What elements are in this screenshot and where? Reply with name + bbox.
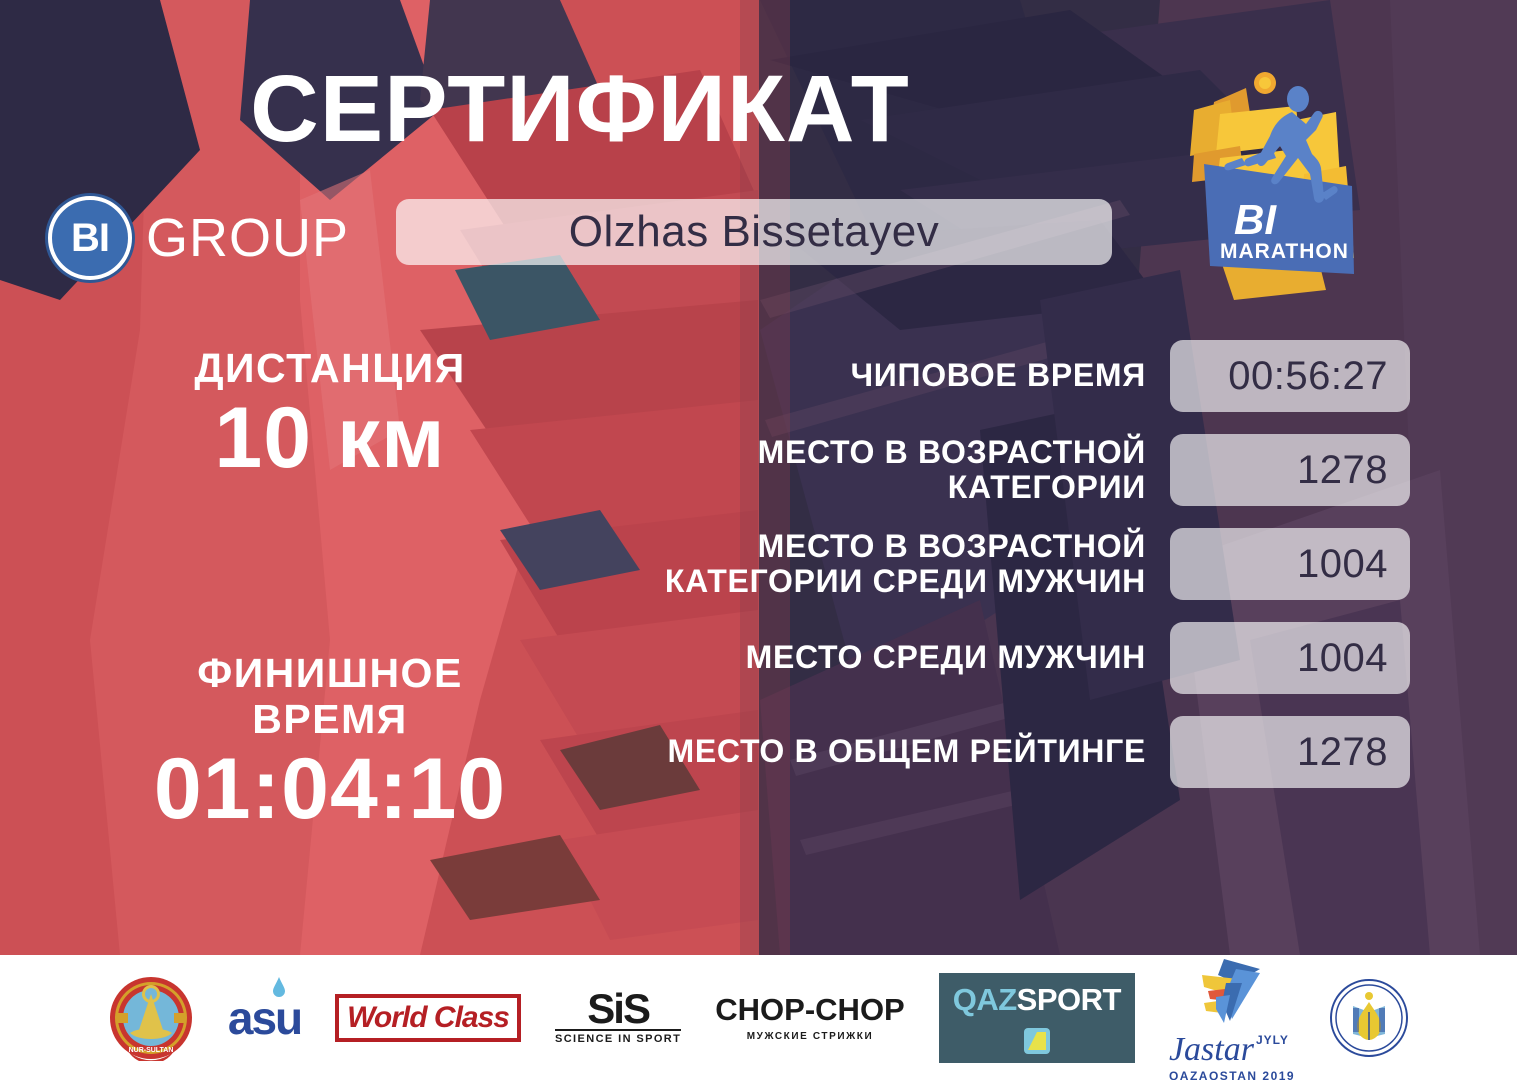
results-stats-list: ЧИПОВОЕ ВРЕМЯ 00:56:27 МЕСТО В ВОЗРАСТНО… bbox=[560, 340, 1410, 810]
sponsor-strip: NUR-SULTAN asu World Class SiS SCIENCE I… bbox=[0, 955, 1517, 1080]
bi-marathon-logo: BI MARATHON bbox=[1176, 62, 1382, 312]
certificate: СЕРТИФИКАТ BI GROUP Olzhas Bissetayev bbox=[0, 0, 1517, 1080]
qazsport-wordmark-a: QAZ bbox=[953, 982, 1017, 1017]
sis-wordmark: SiS bbox=[587, 990, 649, 1028]
sponsor-chop-chop: CHOP-CHOP МУЖСКИЕ СТРИЖКИ bbox=[715, 994, 904, 1042]
marathon-bi-text: BI bbox=[1234, 196, 1277, 243]
sponsor-ministry-culture-sport bbox=[1329, 978, 1409, 1058]
stat-row-overall-place: МЕСТО В ОБЩЕМ РЕЙТИНГЕ 1278 bbox=[560, 716, 1410, 788]
sponsor-jastar-jyly: Jastar JYLY QAZAQSTAN 2019 bbox=[1169, 953, 1295, 1080]
nur-sultan-label: NUR-SULTAN bbox=[128, 1047, 173, 1054]
ministry-emblem-icon bbox=[1329, 978, 1409, 1058]
stat-row-age-category-place: МЕСТО В ВОЗРАСТНОЙ КАТЕГОРИИ 1278 bbox=[560, 434, 1410, 506]
qazsport-wordmark-b: SPORT bbox=[1017, 982, 1121, 1017]
stat-label: МЕСТО В ВОЗРАСТНОЙ КАТЕГОРИИ СРЕДИ МУЖЧИ… bbox=[560, 529, 1170, 599]
nur-sultan-emblem-icon: NUR-SULTAN bbox=[108, 975, 194, 1061]
sponsor-qazsport: QAZSPORT bbox=[939, 973, 1135, 1063]
jastar-jyly-text: JYLY bbox=[1256, 1033, 1289, 1047]
asu-drop-icon bbox=[272, 977, 286, 997]
world-class-wordmark: World Class bbox=[347, 1001, 509, 1035]
stat-label: МЕСТО СРЕДИ МУЖЧИН bbox=[560, 640, 1170, 675]
qazsport-mark-icon bbox=[1024, 1028, 1050, 1054]
sponsor-asu: asu bbox=[228, 991, 301, 1045]
stat-label: МЕСТО В ВОЗРАСТНОЙ КАТЕГОРИИ bbox=[560, 435, 1170, 505]
stat-label: МЕСТО В ОБЩЕМ РЕЙТИНГЕ bbox=[560, 734, 1170, 769]
stat-row-chip-time: ЧИПОВОЕ ВРЕМЯ 00:56:27 bbox=[560, 340, 1410, 412]
stat-value: 1004 bbox=[1170, 622, 1410, 694]
sis-tagline: SCIENCE IN SPORT bbox=[555, 1029, 681, 1045]
stat-value: 1004 bbox=[1170, 528, 1410, 600]
finish-time-label: ФИНИШНОЕ ВРЕМЯ bbox=[160, 651, 500, 743]
chop-chop-tagline: МУЖСКИЕ СТРИЖКИ bbox=[747, 1031, 874, 1042]
stat-label: ЧИПОВОЕ ВРЕМЯ bbox=[560, 358, 1170, 393]
sponsor-sis: SiS SCIENCE IN SPORT bbox=[555, 990, 681, 1046]
jastar-bird-icon bbox=[1198, 953, 1266, 1027]
chop-chop-wordmark: CHOP-CHOP bbox=[715, 994, 904, 1025]
sponsor-world-class: World Class bbox=[335, 994, 521, 1042]
stat-value: 1278 bbox=[1170, 716, 1410, 788]
stat-row-men-place: МЕСТО СРЕДИ МУЖЧИН 1004 bbox=[560, 622, 1410, 694]
jastar-wordmark: Jastar bbox=[1169, 1033, 1254, 1067]
stat-row-age-category-men-place: МЕСТО В ВОЗРАСТНОЙ КАТЕГОРИИ СРЕДИ МУЖЧИ… bbox=[560, 528, 1410, 600]
asu-wordmark: asu bbox=[228, 991, 301, 1045]
sponsor-nur-sultan: NUR-SULTAN bbox=[108, 975, 194, 1061]
stat-value: 00:56:27 bbox=[1170, 340, 1410, 412]
jastar-subtitle: QAZAQSTAN 2019 bbox=[1169, 1069, 1295, 1080]
marathon-word-text: MARATHON bbox=[1220, 240, 1349, 263]
stat-value: 1278 bbox=[1170, 434, 1410, 506]
